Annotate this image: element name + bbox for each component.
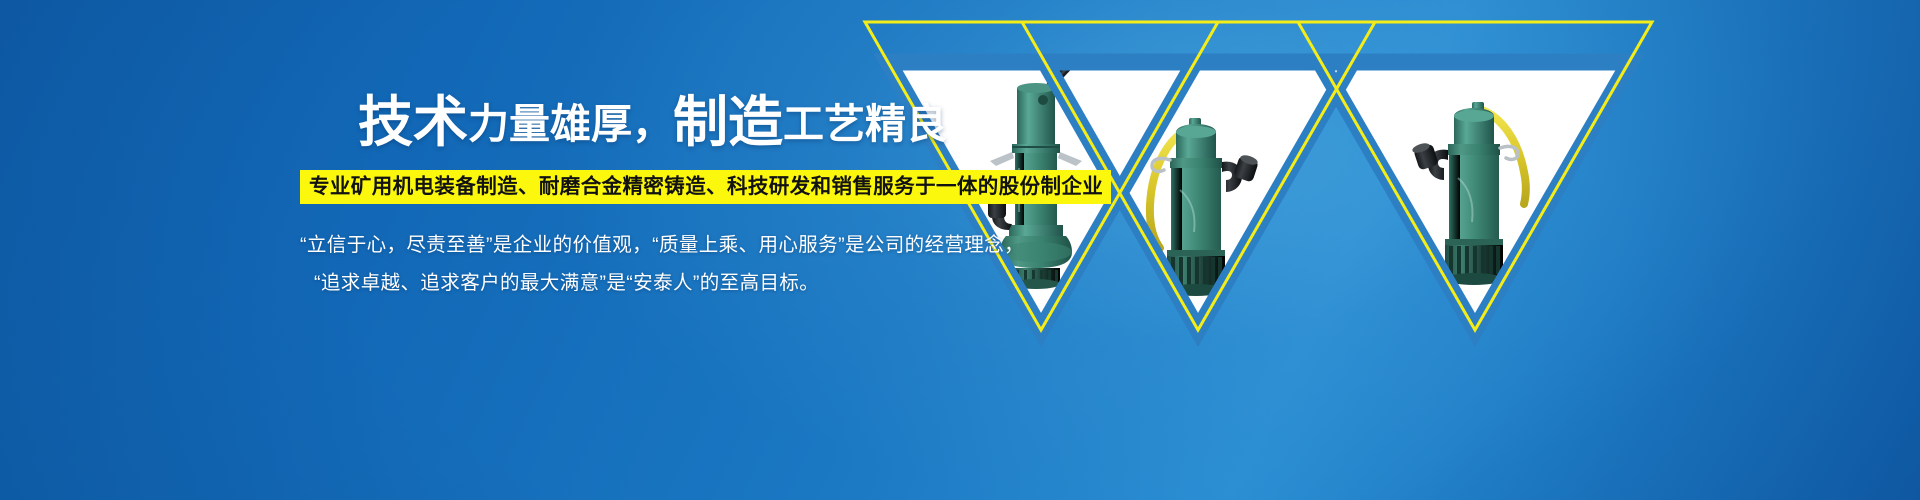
description-line-2: “追求卓越、追求客户的最大满意”是“安泰人”的至高目标。 bbox=[300, 264, 920, 302]
headline-segment-1: 技术 bbox=[358, 91, 468, 153]
subtitle-highlight-bar: 专业矿用机电装备制造、耐磨合金精密铸造、科技研发和销售服务于一体的股份制企业 bbox=[300, 170, 1111, 204]
headline-segment-2: 力量雄厚， bbox=[468, 101, 673, 147]
headline: 技术力量雄厚，制造工艺精良 bbox=[300, 88, 920, 156]
promo-banner: 技术力量雄厚，制造工艺精良 专业矿用机电装备制造、耐磨合金精密铸造、科技研发和销… bbox=[0, 0, 1920, 500]
banner-text-block: 技术力量雄厚，制造工艺精良 专业矿用机电装备制造、耐磨合金精密铸造、科技研发和销… bbox=[300, 88, 920, 302]
headline-segment-3: 制造 bbox=[673, 91, 783, 153]
description-line-1: “立信于心，尽责至善”是企业的价值观，“质量上乘、用心服务”是公司的经营理念， bbox=[300, 226, 920, 264]
headline-segment-4: 工艺精良 bbox=[783, 101, 947, 147]
description-paragraph: “立信于心，尽责至善”是企业的价值观，“质量上乘、用心服务”是公司的经营理念， … bbox=[300, 226, 920, 302]
